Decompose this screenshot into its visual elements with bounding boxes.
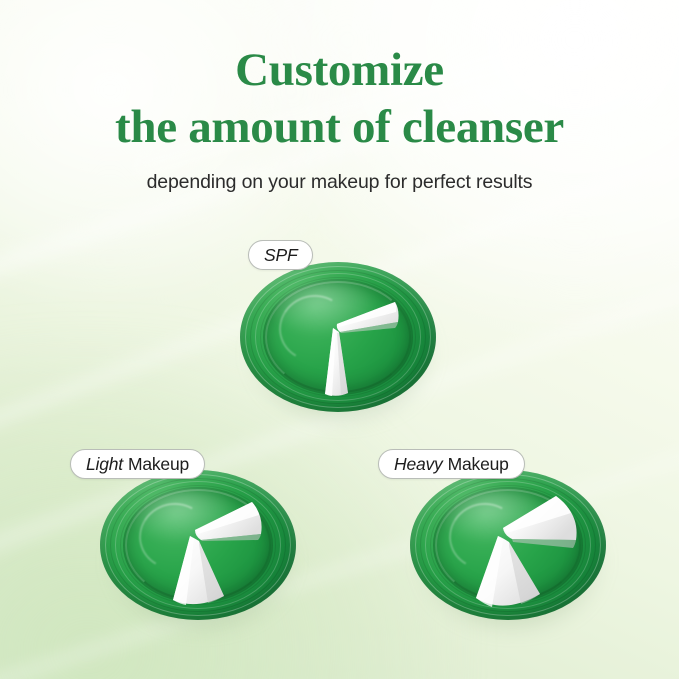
- label-heavy-makeup-emphasis: Heavy: [394, 454, 443, 475]
- cream-wedge: [476, 536, 540, 607]
- jar-heavy-makeup: [410, 470, 606, 620]
- jar-light-makeup: [100, 470, 296, 620]
- jar-spf: [240, 262, 436, 412]
- cream-wedge: [503, 496, 577, 548]
- cream-wedge: [337, 302, 399, 333]
- cream-wedges-spf: [240, 262, 436, 412]
- page-title: Customize the amount of cleanser: [0, 42, 679, 157]
- label-light-makeup: Light Makeup: [70, 449, 205, 479]
- page-title-line-2: the amount of cleanser: [0, 99, 679, 156]
- cream-wedge: [195, 502, 262, 541]
- cream-wedge: [325, 328, 348, 396]
- promo-graphic: Customize the amount of cleanser dependi…: [0, 0, 679, 679]
- cream-wedges-heavy-makeup: [410, 470, 606, 620]
- label-heavy-makeup-rest: Makeup: [448, 454, 509, 475]
- page-subtitle: depending on your makeup for perfect res…: [0, 171, 679, 194]
- cream-wedges-light-makeup: [100, 470, 296, 620]
- heading-block: Customize the amount of cleanser dependi…: [0, 42, 679, 194]
- label-light-makeup-rest: Makeup: [128, 454, 189, 475]
- label-light-makeup-emphasis: Light: [86, 454, 123, 475]
- label-spf-emphasis: SPF: [264, 245, 297, 266]
- label-spf: SPF: [248, 240, 313, 270]
- cream-wedge: [173, 536, 224, 605]
- label-heavy-makeup: Heavy Makeup: [378, 449, 525, 479]
- page-title-line-1: Customize: [235, 44, 444, 96]
